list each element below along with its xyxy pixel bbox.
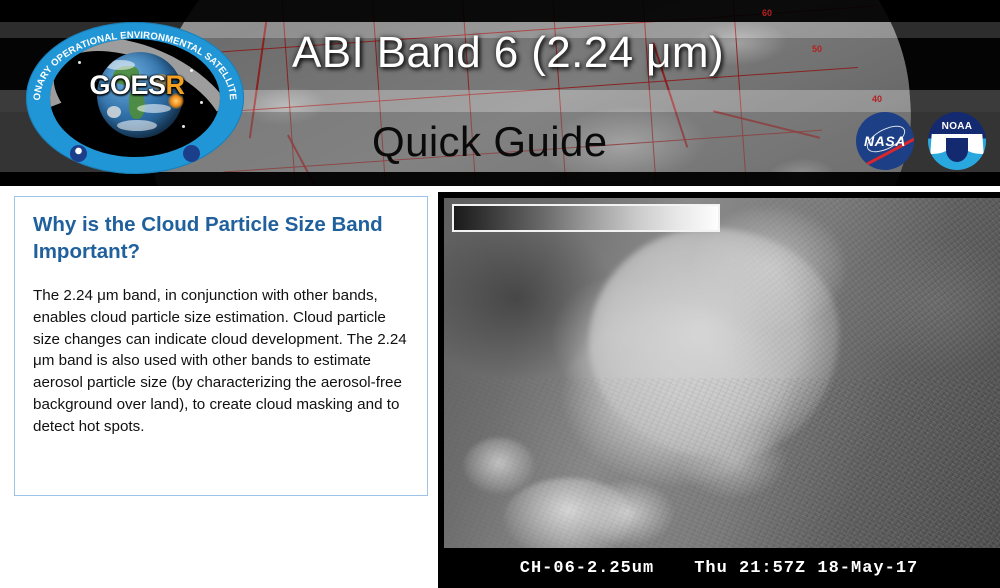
quick-guide-page: 60 50 40 GEOSTATIONARY OPERATIONAL ENVIR… [0, 0, 1000, 588]
star-icon [200, 101, 203, 104]
continent-shape [107, 106, 121, 118]
info-box: Why is the Cloud Particle Size Band Impo… [14, 196, 428, 496]
page-title: ABI Band 6 (2.24 μm) [292, 28, 724, 78]
latitude-label-50: 50 [812, 44, 822, 54]
cloud-wisp [137, 104, 171, 113]
latitude-label-40: 40 [872, 94, 882, 104]
nasa-wordmark: NASA [856, 133, 914, 149]
cloud-wisp [117, 120, 157, 131]
caption-timestamp-label: Thu 21:57Z 18-May-17 [694, 559, 918, 578]
nasa-seal-mini-icon [183, 145, 200, 162]
noaa-seagull-body [946, 138, 968, 162]
info-box-body-text: The 2.24 μm band, in conjunction with ot… [33, 285, 409, 437]
goes-r-wordmark-r: R [166, 70, 185, 100]
satellite-caption-bar: CH-06-2.25um Thu 21:57Z 18-May-17 [438, 548, 1000, 588]
star-icon [182, 125, 185, 128]
goes-r-wordmark-goes: GOES [89, 70, 165, 100]
header-banner: 60 50 40 GEOSTATIONARY OPERATIONAL ENVIR… [0, 0, 1000, 186]
satellite-imagery [444, 198, 1000, 548]
satellite-terrain-texture-lower [444, 378, 1000, 548]
grayscale-colorbar [452, 204, 720, 232]
noaa-wordmark: NOAA [928, 121, 986, 132]
geo-gridline [729, 0, 748, 186]
body-content: Why is the Cloud Particle Size Band Impo… [0, 186, 1000, 588]
nasa-logo-icon: NASA [856, 112, 914, 170]
info-box-heading: Why is the Cloud Particle Size Band Impo… [33, 211, 409, 265]
page-subtitle: Quick Guide [372, 118, 608, 166]
noaa-logo-icon: NOAA [928, 112, 986, 170]
star-icon [78, 61, 81, 64]
noaa-seal-mini-icon [70, 145, 87, 162]
goes-r-logo: GEOSTATIONARY OPERATIONAL ENVIRONMENTAL … [26, 22, 244, 174]
geo-coastline [249, 19, 268, 138]
cloud-wisp [105, 60, 135, 70]
satellite-image-panel: CH-06-2.25um Thu 21:57Z 18-May-17 [438, 192, 1000, 588]
latitude-label-60: 60 [762, 8, 772, 18]
agency-logo-group: NASA NOAA [856, 112, 986, 170]
caption-channel-label: CH-06-2.25um [520, 559, 654, 578]
goes-r-wordmark: GOESR [62, 72, 212, 99]
